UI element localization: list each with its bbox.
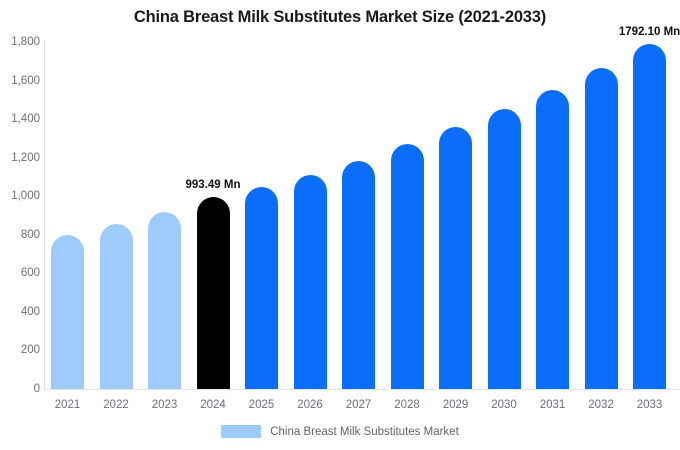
bar-2029[interactable] xyxy=(439,127,472,389)
y-axis-tick-label: 1,200 xyxy=(4,152,40,164)
bar-value-label-2024: 993.49 Mn xyxy=(186,179,241,191)
bar-2031[interactable] xyxy=(536,90,569,389)
y-axis-tick-label: 200 xyxy=(4,344,40,356)
x-axis-line xyxy=(44,389,680,390)
bar-2030[interactable] xyxy=(488,109,521,389)
chart-title: China Breast Milk Substitutes Market Siz… xyxy=(0,8,680,27)
bar-2024[interactable] xyxy=(197,197,230,389)
legend-swatch-icon xyxy=(221,425,261,438)
y-axis-tick-label: 400 xyxy=(4,306,40,318)
bar-2026[interactable] xyxy=(294,175,327,389)
y-axis-tick-label: 0 xyxy=(4,383,40,395)
bar-2022[interactable] xyxy=(100,224,133,389)
y-axis-tick-labels: 1,8001,6001,4001,2001,0008006004002000 xyxy=(0,0,40,450)
bar-2032[interactable] xyxy=(585,68,618,389)
bar-2023[interactable] xyxy=(148,212,181,389)
y-axis-tick-label: 1,000 xyxy=(4,190,40,202)
bar-2027[interactable] xyxy=(342,161,375,389)
y-axis-tick-label: 1,800 xyxy=(4,36,40,48)
legend-label: China Breast Milk Substitutes Market xyxy=(270,426,459,438)
y-axis-tick-label: 600 xyxy=(4,267,40,279)
y-axis-tick-label: 1,400 xyxy=(4,113,40,125)
y-axis-tick-label: 800 xyxy=(4,229,40,241)
x-axis-tick-label: 2033 xyxy=(620,399,680,411)
bar-chart: China Breast Milk Substitutes Market Siz… xyxy=(0,0,680,450)
chart-legend: China Breast Milk Substitutes Market xyxy=(0,425,680,438)
bar-2028[interactable] xyxy=(391,144,424,389)
y-axis-tick-label: 1,600 xyxy=(4,75,40,87)
bar-2025[interactable] xyxy=(245,187,278,389)
bar-value-label-2033: 1792.10 Mn xyxy=(619,26,680,38)
bar-2021[interactable] xyxy=(51,235,84,389)
bar-2033[interactable] xyxy=(633,44,666,389)
